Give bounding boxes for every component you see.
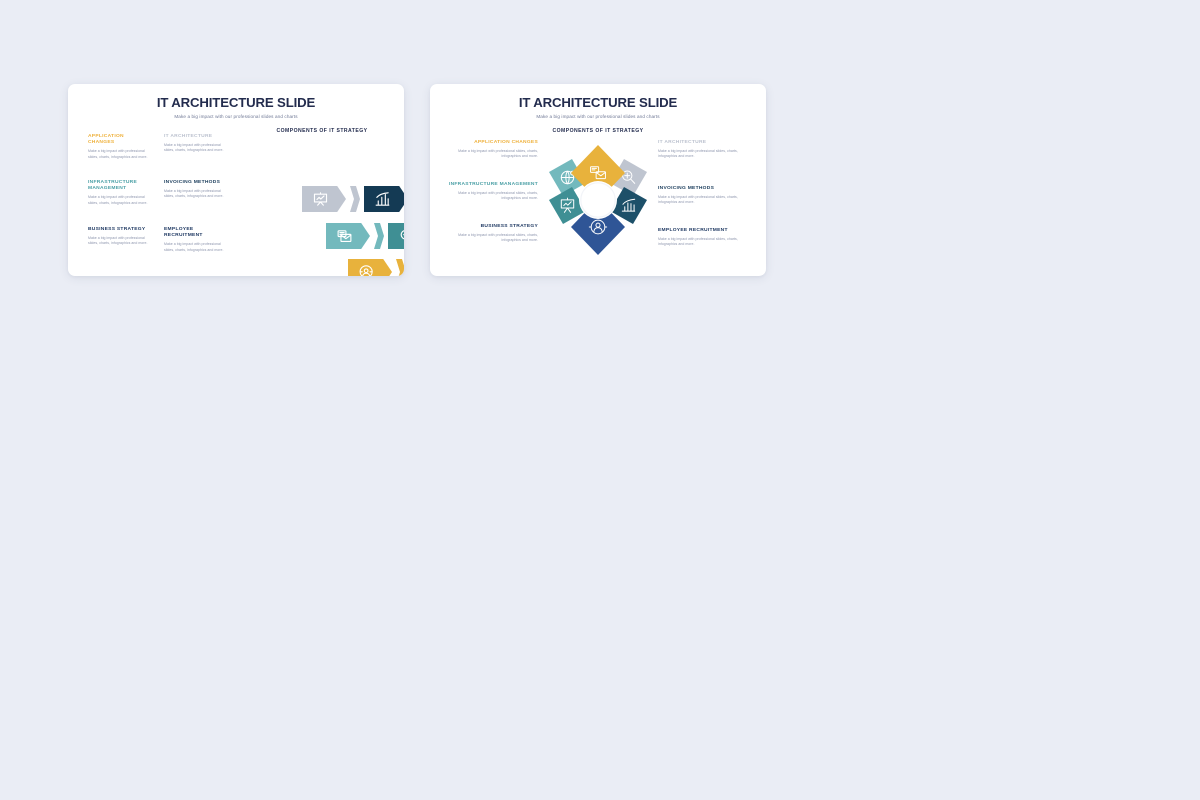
text-block-title: INFRASTRUCTURE MANAGEMENT <box>88 180 151 193</box>
bar-chart-icon <box>374 191 391 208</box>
text-block-title: BUSINESS STRATEGY <box>446 224 538 230</box>
chevron-bar-chart[interactable] <box>364 186 404 212</box>
chevron-row-1 <box>302 186 404 212</box>
text-block-invoicing-methods[interactable]: INVOICING METHODS Make a big impact with… <box>164 180 227 199</box>
text-block-body: Make a big impact with professional slid… <box>164 242 227 253</box>
chevron-recruitment[interactable] <box>348 259 392 276</box>
chevron-presentation[interactable] <box>302 186 346 212</box>
text-block-employee-recruitment[interactable]: EMPLOYEE RECRUITMENT Make a big impact w… <box>164 227 227 253</box>
text-block-employee-recruitment[interactable]: EMPLOYEE RECRUITMENT Make a big impact w… <box>658 228 750 247</box>
text-block-business-strategy[interactable]: BUSINESS STRATEGY Make a big impact with… <box>88 227 151 246</box>
section-heading-wrap-right: COMPONENTS OF IT STRATEGY <box>518 128 678 134</box>
text-block-body: Make a big impact with professional slid… <box>446 149 538 160</box>
text-block-title: IT ARCHITECTURE <box>164 134 227 140</box>
card-header-right: IT ARCHITECTURE SLIDE Make a big impact … <box>430 84 766 119</box>
text-block-title: APPLICATION CHANGES <box>446 140 538 146</box>
text-block-it-architecture[interactable]: IT ARCHITECTURE Make a big impact with p… <box>658 140 750 159</box>
text-block-application-changes[interactable]: APPLICATION CHANGES Make a big impact wi… <box>446 140 538 159</box>
chevron-tick <box>374 223 384 249</box>
text-block-title: EMPLOYEE RECRUITMENT <box>164 227 227 240</box>
text-block-body: Make a big impact with professional slid… <box>446 233 538 244</box>
text-block-body: Make a big impact with professional slid… <box>164 189 227 200</box>
chevron-diagram <box>254 126 390 246</box>
chevron-tick <box>350 186 360 212</box>
text-block-title: APPLICATION CHANGES <box>88 134 151 147</box>
text-block-infrastructure-management[interactable]: INFRASTRUCTURE MANAGEMENT Make a big imp… <box>88 180 151 206</box>
page-title: IT ARCHITECTURE SLIDE <box>430 96 766 111</box>
page-subtitle: Make a big impact with our professional … <box>430 114 766 119</box>
text-block-invoicing-methods[interactable]: INVOICING METHODS Make a big impact with… <box>658 186 750 205</box>
text-block-it-architecture[interactable]: IT ARCHITECTURE Make a big impact with p… <box>164 134 227 153</box>
text-block-application-changes[interactable]: APPLICATION CHANGES Make a big impact wi… <box>88 134 151 160</box>
section-heading: COMPONENTS OF IT STRATEGY <box>518 128 678 134</box>
chevron-magnifier[interactable] <box>388 223 404 249</box>
text-block-title: INFRASTRUCTURE MANAGEMENT <box>446 182 538 188</box>
chevron-row-3 <box>348 259 404 276</box>
text-block-body: Make a big impact with professional slid… <box>88 149 151 160</box>
petal-diagram-svg <box>542 136 654 264</box>
text-block-body: Make a big impact with professional slid… <box>658 237 750 248</box>
card-header-left: IT ARCHITECTURE SLIDE Make a big impact … <box>68 84 404 119</box>
text-block-body: Make a big impact with professional slid… <box>658 149 750 160</box>
text-block-body: Make a big impact with professional slid… <box>88 195 151 206</box>
page-title: IT ARCHITECTURE SLIDE <box>68 96 404 111</box>
chevron-row-2 <box>326 223 404 249</box>
text-block-body: Make a big impact with professional slid… <box>88 236 151 247</box>
presentation-board-icon <box>312 191 329 208</box>
text-block-title: INVOICING METHODS <box>164 180 227 186</box>
chevron-invoice[interactable] <box>326 223 370 249</box>
text-block-title: IT ARCHITECTURE <box>658 140 750 146</box>
text-block-title: BUSINESS STRATEGY <box>88 227 151 233</box>
slide-card-left[interactable]: IT ARCHITECTURE SLIDE Make a big impact … <box>68 84 404 276</box>
recruitment-target-icon <box>358 264 375 277</box>
page-canvas: IT ARCHITECTURE SLIDE Make a big impact … <box>0 0 1200 800</box>
text-block-body: Make a big impact with professional slid… <box>164 143 227 154</box>
slide-card-right[interactable]: IT ARCHITECTURE SLIDE Make a big impact … <box>430 84 766 276</box>
text-block-body: Make a big impact with professional slid… <box>658 195 750 206</box>
page-subtitle: Make a big impact with our professional … <box>68 114 404 119</box>
text-block-body: Make a big impact with professional slid… <box>446 191 538 202</box>
petal-diagram <box>542 136 654 264</box>
chevron-tick <box>396 259 404 276</box>
mail-invoice-icon <box>336 228 353 245</box>
text-block-title: EMPLOYEE RECRUITMENT <box>658 228 750 234</box>
text-block-business-strategy[interactable]: BUSINESS STRATEGY Make a big impact with… <box>446 224 538 243</box>
text-block-infrastructure-management[interactable]: INFRASTRUCTURE MANAGEMENT Make a big imp… <box>446 182 538 201</box>
text-block-title: INVOICING METHODS <box>658 186 750 192</box>
petal-center-ring <box>581 183 615 217</box>
magnifier-icon <box>398 228 404 245</box>
